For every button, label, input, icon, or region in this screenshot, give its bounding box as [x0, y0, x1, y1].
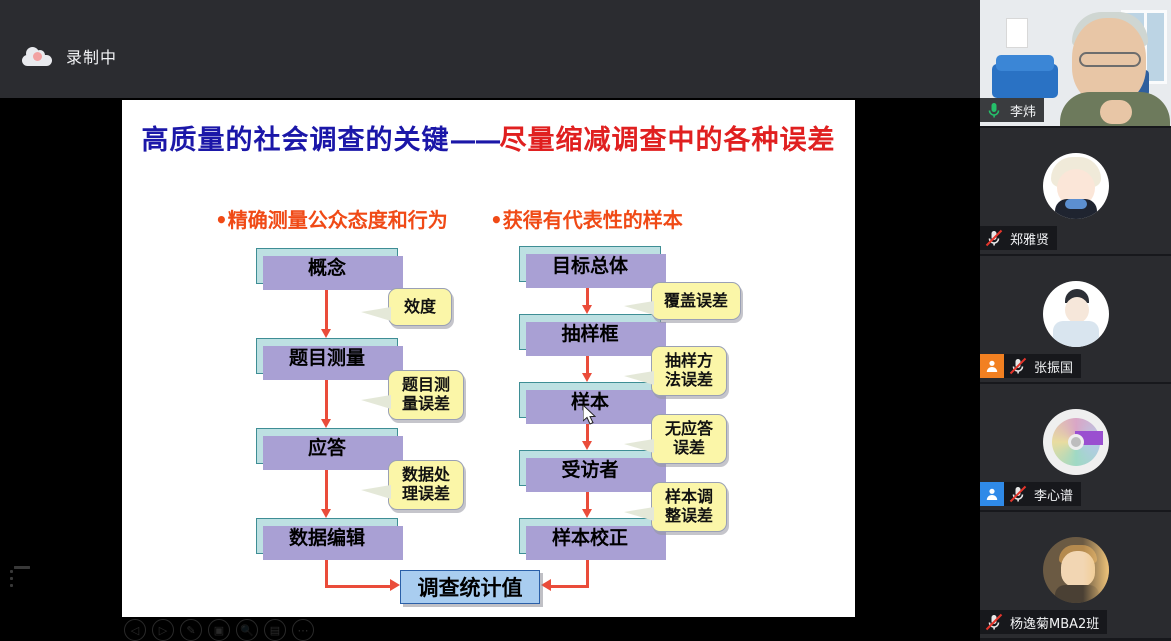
meeting-window: 录制中 高质量的社会调查的关键——尽量缩减调查中的各种误差 •精确测量公众态度和…	[0, 0, 1171, 641]
mouse-cursor	[583, 405, 599, 427]
callout-item-measure-error-line2: 量误差	[402, 395, 450, 414]
presentation-slide: 高质量的社会调查的关键——尽量缩减调查中的各种误差 •精确测量公众态度和行为 •…	[122, 100, 855, 617]
recording-indicator: 录制中	[22, 44, 117, 68]
participant-label: 郑雅贤	[980, 226, 1057, 250]
participant-tile-zhengyaxian[interactable]: 郑雅贤	[980, 128, 1171, 254]
flow-box-item-measure: 题目测量	[256, 338, 398, 374]
result-box-survey-statistic: 调查统计值	[400, 570, 540, 604]
flow-box-sampling-frame: 抽样框	[519, 314, 661, 350]
column-header-right: •获得有代表性的样本	[490, 204, 683, 233]
callout-item-measure-error-line1: 题目测	[402, 376, 450, 395]
avatar	[1043, 281, 1109, 347]
result-arrowhead-right	[541, 579, 551, 591]
zoom-button[interactable]: 🔍	[236, 619, 258, 641]
result-arrowhead-left	[390, 579, 400, 591]
callout-coverage-error: 覆盖误差	[651, 282, 741, 320]
participant-name: 郑雅贤	[1008, 229, 1049, 248]
column-header-left: •精确测量公众态度和行为	[215, 204, 448, 233]
result-path-left-horizontal	[325, 585, 393, 588]
flow-box-data-edit: 数据编辑	[256, 518, 398, 554]
callout-data-processing-error: 数据处 理误差	[388, 460, 464, 510]
slide-title-main: 高质量的社会调查的关键	[142, 125, 450, 156]
flow-arrow-left-3	[325, 466, 328, 510]
callout-data-processing-error-line1: 数据处	[402, 466, 450, 485]
participant-name: 张振国	[1032, 357, 1073, 376]
annotate-pen-button[interactable]: ✎	[180, 619, 202, 641]
next-slide-button[interactable]: ▷	[152, 619, 174, 641]
participant-tile-zhangzhenguo[interactable]: 张振国	[980, 256, 1171, 382]
host-badge-icon	[980, 354, 1004, 378]
result-path-right-horizontal	[550, 585, 589, 588]
result-path-left-vertical	[325, 556, 328, 587]
microphone-muted-icon	[983, 611, 1005, 633]
flow-box-sample-adjust: 样本校正	[519, 518, 661, 554]
participant-name: 李炜	[1008, 101, 1036, 120]
flow-box-concept: 概念	[256, 248, 398, 284]
callout-nonresponse-error-line2: 误差	[673, 439, 705, 458]
shared-screen-stage: 录制中 高质量的社会调查的关键——尽量缩减调查中的各种误差 •精确测量公众态度和…	[0, 0, 980, 641]
microphone-muted-icon	[1007, 483, 1029, 505]
participant-label: 张振国	[980, 354, 1081, 378]
slide-toolbar: ◁ ▷ ✎ ▣ 🔍 ▤ ⋯	[124, 619, 314, 641]
participant-name: 杨逸菊MBA2班	[1008, 613, 1099, 632]
flow-box-target-population: 目标总体	[519, 246, 661, 282]
callout-nonresponse-error-line1: 无应答	[665, 420, 713, 439]
flow-box-respondent: 受访者	[519, 450, 661, 486]
microphone-muted-icon	[1007, 355, 1029, 377]
recording-label: 录制中	[66, 44, 117, 68]
slide-title-sub: 尽量缩减调查中的各种误差	[500, 125, 836, 156]
microphone-muted-icon	[983, 227, 1005, 249]
participant-tile-yangyiju[interactable]: 杨逸菊MBA2班	[980, 512, 1171, 638]
flow-arrow-left-2	[325, 376, 328, 420]
callout-sampling-method-error: 抽样方 法误差	[651, 346, 727, 396]
avatar	[1043, 537, 1109, 603]
whiteboard-button[interactable]: ▤	[264, 619, 286, 641]
callout-item-measure-error: 题目测 量误差	[388, 370, 464, 420]
callout-sample-adjust-error: 样本调 整误差	[651, 482, 727, 532]
callout-sampling-method-error-line2: 法误差	[665, 371, 713, 390]
callout-sampling-method-error-line1: 抽样方	[665, 352, 713, 371]
screenshot-button[interactable]: ▣	[208, 619, 230, 641]
callout-sample-adjust-error-line1: 样本调	[665, 488, 713, 507]
meeting-topbar: 录制中	[0, 0, 980, 98]
callout-nonresponse-error: 无应答 误差	[651, 414, 727, 464]
more-options-button[interactable]: ⋯	[292, 619, 314, 641]
page-title: 高质量的社会调查的关键——尽量缩减调查中的各种误差	[132, 118, 845, 157]
callout-validity: 效度	[388, 288, 452, 326]
result-path-right-vertical	[586, 556, 589, 587]
callout-coverage-error-text: 覆盖误差	[664, 292, 728, 311]
participant-label: 李心谱	[980, 482, 1081, 506]
callout-data-processing-error-line2: 理误差	[402, 485, 450, 504]
slide-title-dash: ——	[450, 125, 500, 156]
participant-tile-lixinpu[interactable]: 李心谱	[980, 384, 1171, 510]
avatar	[1043, 153, 1109, 219]
prev-slide-button[interactable]: ◁	[124, 619, 146, 641]
participant-name: 李心谱	[1032, 485, 1073, 504]
participant-label: 杨逸菊MBA2班	[980, 610, 1107, 634]
microphone-on-icon	[983, 99, 1005, 121]
callout-validity-text: 效度	[404, 298, 436, 317]
flow-box-response: 应答	[256, 428, 398, 464]
list-menu-icon[interactable]	[10, 566, 36, 592]
participant-rail[interactable]: 李炜 郑雅贤	[980, 0, 1171, 641]
participant-label: 李炜	[980, 98, 1044, 122]
flow-arrow-left-1	[325, 286, 328, 330]
participant-tile-liwei[interactable]: 李炜	[980, 0, 1171, 126]
callout-sample-adjust-error-line2: 整误差	[665, 507, 713, 526]
cohost-badge-icon	[980, 482, 1004, 506]
cloud-recording-icon	[22, 46, 52, 66]
avatar	[1043, 409, 1109, 475]
